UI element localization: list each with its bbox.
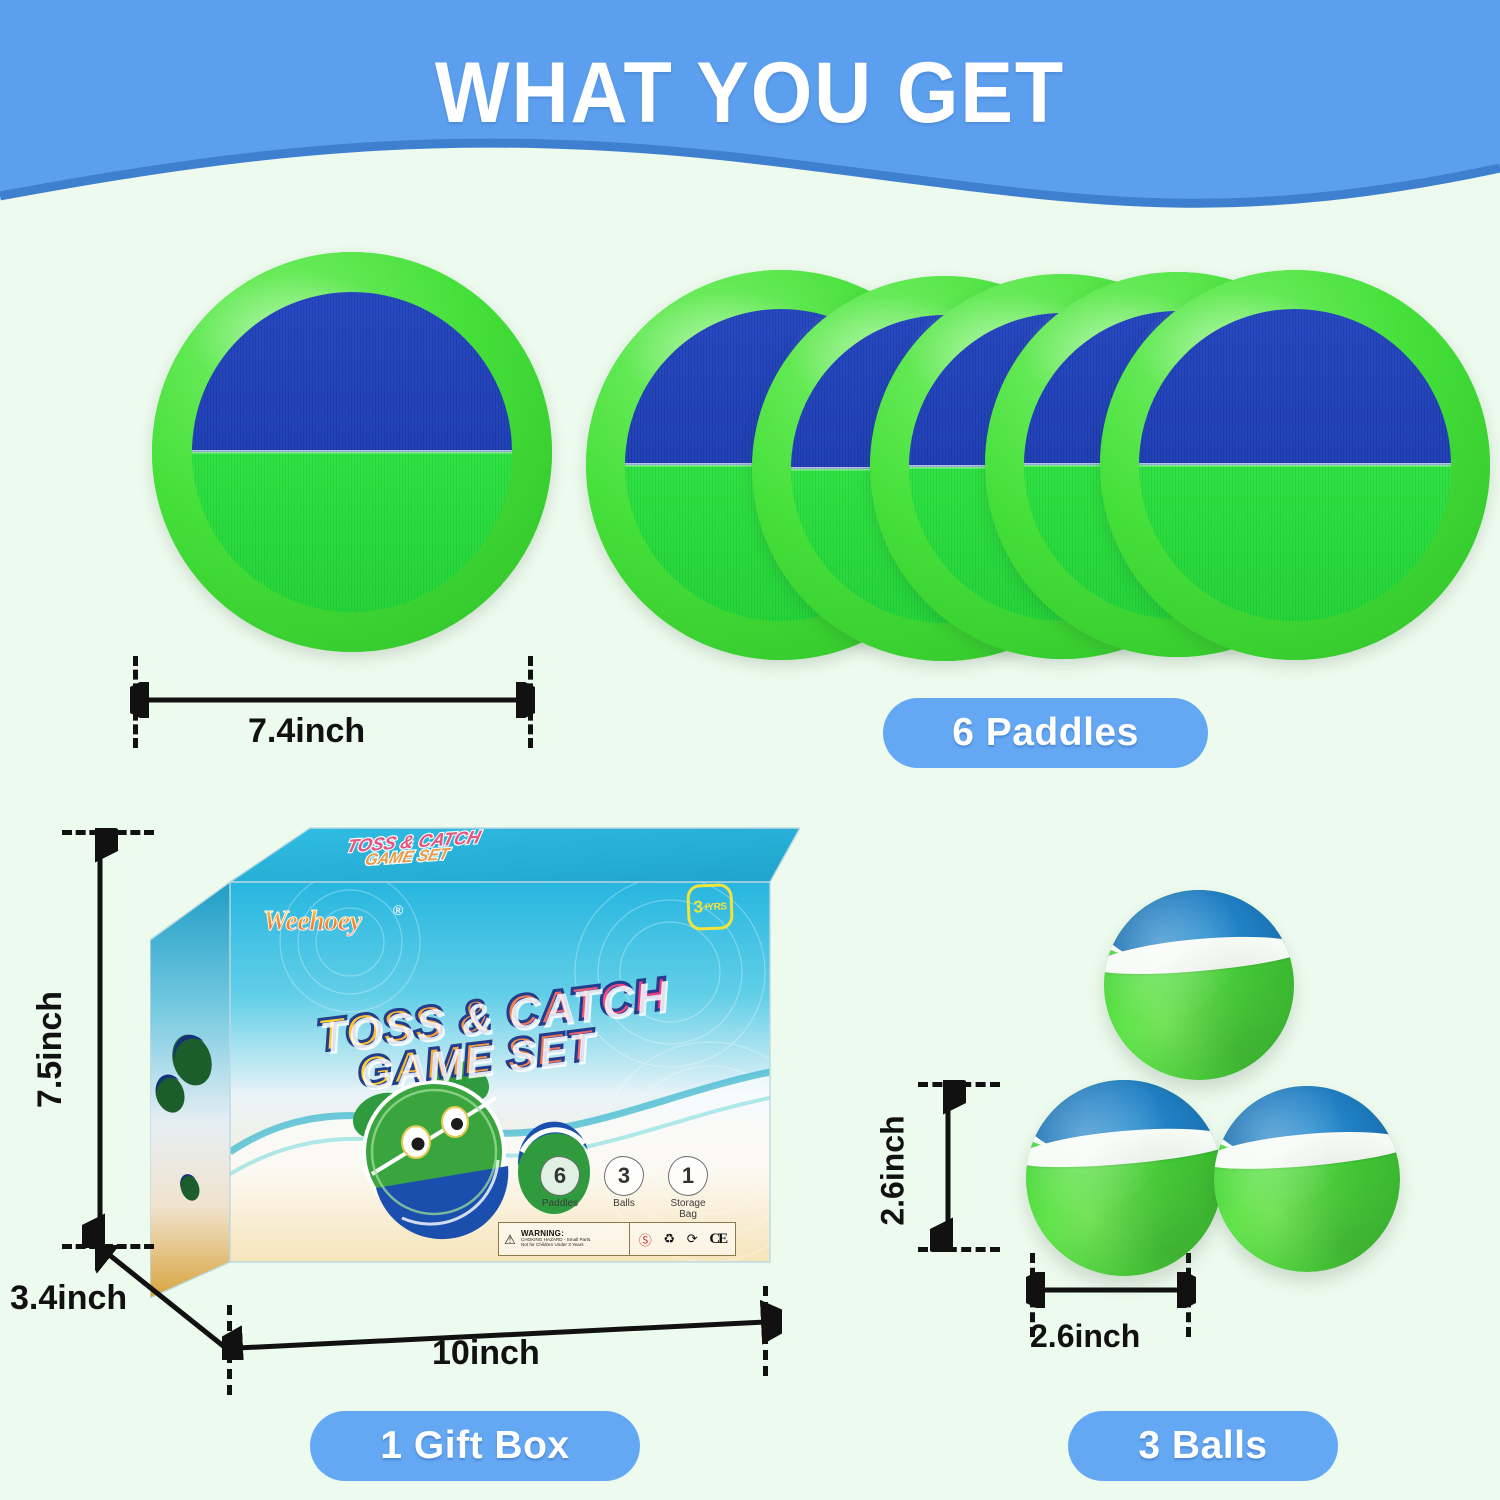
box-contents-counts: 6 Paddles 3 Balls 1 Storage Bag xyxy=(535,1156,713,1220)
count-number: 6 xyxy=(540,1156,580,1196)
brand-logo: Weehoey xyxy=(263,906,362,938)
recycle-icon: ♻ xyxy=(663,1231,675,1247)
ball-fuzz-shading xyxy=(1026,1080,1222,1276)
no-under-3-icon: Ⓢ xyxy=(639,1230,652,1249)
count-label: Paddles xyxy=(535,1198,585,1209)
ball-fuzz-shading xyxy=(1104,890,1294,1080)
box-height-arrow xyxy=(82,828,118,1248)
registered-mark: ® xyxy=(393,902,403,918)
paddle-weave-texture xyxy=(1139,309,1451,621)
paddle-dimension-label: 7.4inch xyxy=(248,712,365,751)
ball-width-arrow xyxy=(1026,1272,1196,1308)
box-height-label: 7.5inch xyxy=(31,991,70,1108)
ball-width-label: 2.6inch xyxy=(1030,1318,1140,1355)
badge-1-gift-box: 1 Gift Box xyxy=(310,1411,640,1481)
badge-6-paddles: 6 Paddles xyxy=(883,698,1208,768)
ball-height-label: 2.6inch xyxy=(875,1115,912,1225)
warning-text-group: ⚠ WARNING: CHOKING HAZARD - Small Parts.… xyxy=(499,1223,630,1255)
ball-height-arrow xyxy=(930,1080,966,1252)
age-badge-unit: YRS xyxy=(707,901,726,913)
ball-2 xyxy=(1026,1080,1222,1276)
ball-fuzz-shading xyxy=(1214,1086,1400,1272)
warning-bar: ⚠ WARNING: CHOKING HAZARD - Small Parts.… xyxy=(498,1222,736,1256)
paddle-face xyxy=(1139,309,1451,621)
header-banner: WHAT YOU GET xyxy=(0,0,1500,215)
count-item-storage-bag: 1 Storage Bag xyxy=(663,1156,713,1220)
box-depth-label: 3.4inch xyxy=(10,1279,127,1318)
badge-3-balls: 3 Balls xyxy=(1068,1411,1338,1481)
paddle-weave-texture xyxy=(192,292,512,612)
green-dot-icon: ⟳ xyxy=(687,1231,698,1247)
count-item-balls: 3 Balls xyxy=(599,1156,649,1220)
warning-lines: WARNING: CHOKING HAZARD - Small Parts. N… xyxy=(521,1230,591,1248)
age-badge: 3+YRS xyxy=(686,883,734,931)
paddle-6 xyxy=(1100,270,1490,660)
ball-1 xyxy=(1104,890,1294,1080)
count-number: 1 xyxy=(668,1156,708,1196)
gift-box-image: TOSS & CATCH TOSS & CATCH GAME SET GAME … xyxy=(150,822,800,1307)
certification-symbols: Ⓢ ♻ ⟳ CE xyxy=(630,1223,735,1255)
count-label: Storage Bag xyxy=(663,1198,713,1220)
ball-3 xyxy=(1214,1086,1400,1272)
warning-triangle-icon: ⚠ xyxy=(502,1232,518,1246)
paddle-face xyxy=(192,292,512,612)
page-title: WHAT YOU GET xyxy=(60,44,1440,143)
paddle-1 xyxy=(152,252,552,652)
count-number: 3 xyxy=(604,1156,644,1196)
infographic-canvas: WHAT YOU GET xyxy=(0,0,1500,1500)
box-width-label: 10inch xyxy=(432,1334,540,1373)
count-label: Balls xyxy=(599,1198,649,1209)
count-item-paddles: 6 Paddles xyxy=(535,1156,585,1220)
warning-line-2: Not for Children Under 3 Years xyxy=(521,1243,591,1248)
ce-mark-icon: CE xyxy=(709,1231,726,1248)
